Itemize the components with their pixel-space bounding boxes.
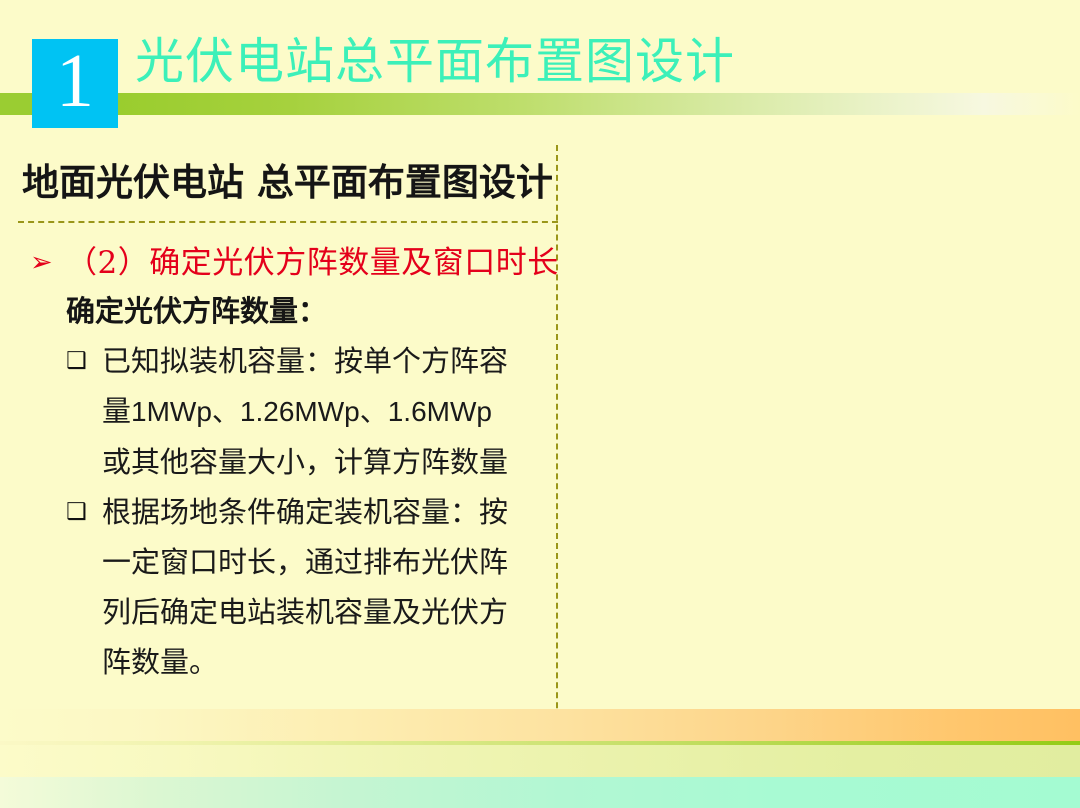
list-item-line: 一定窗口时长，通过排布光伏阵 (102, 545, 508, 579)
section-heading: 地面光伏电站 总平面布置图设计 (22, 160, 553, 204)
square-bullet-icon: ❑ (66, 336, 102, 386)
footer-band-mint (0, 777, 1080, 808)
list-item-body: 已知拟装机容量：按单个方阵容 量1MWp、1.26MWp、1.6MWp 或其他容… (102, 336, 542, 487)
list-item-line: 量 (102, 394, 131, 428)
list-item-line: 已知拟装机容量：按单个方阵容 (102, 344, 508, 378)
divider-horizontal (18, 221, 558, 223)
page-title: 光伏电站总平面布置图设计 (135, 34, 735, 90)
list-item: ❑ 根据场地条件确定装机容量：按 一定窗口时长，通过排布光伏阵 列后确定电站装机… (0, 487, 560, 687)
content-panel: 地面光伏电站 总平面布置图设计 ➢ （2）确定光伏方阵数量及窗口时长 确定光伏方… (0, 140, 580, 760)
bullet-list: ➢ （2）确定光伏方阵数量及窗口时长 确定光伏方阵数量： ❑ 已知拟装机容量：按… (0, 240, 560, 687)
list-item-capacities: 1MWp、1.26MWp、1.6MWp (131, 396, 492, 427)
square-bullet-icon: ❑ (66, 487, 102, 537)
list-subheading: 确定光伏方阵数量： (0, 288, 560, 334)
footer-band-lime (0, 745, 1080, 777)
list-item-level1-label: （2）确定光伏方阵数量及窗口时长 (66, 240, 559, 286)
list-item-line: 根据场地条件确定装机容量：按 (102, 495, 508, 529)
list-item-line: 列后确定电站装机容量及光伏方 (102, 595, 508, 629)
list-item-line: 阵数量。 (102, 645, 218, 679)
list-item-body: 根据场地条件确定装机容量：按 一定窗口时长，通过排布光伏阵 列后确定电站装机容量… (102, 487, 542, 687)
list-item-line: 或其他容量大小，计算方阵数量 (102, 445, 508, 479)
footer-band-orange (0, 709, 1080, 741)
section-number-badge: 1 (32, 39, 118, 128)
list-item: ❑ 已知拟装机容量：按单个方阵容 量1MWp、1.26MWp、1.6MWp 或其… (0, 336, 560, 487)
list-item-level1: ➢ （2）确定光伏方阵数量及窗口时长 (0, 240, 560, 286)
arrow-bullet-icon: ➢ (30, 240, 66, 286)
header-accent-bar-right (118, 93, 1080, 115)
section-number-label: 1 (56, 43, 94, 119)
slide-header: 1 光伏电站总平面布置图设计 (0, 0, 1080, 140)
